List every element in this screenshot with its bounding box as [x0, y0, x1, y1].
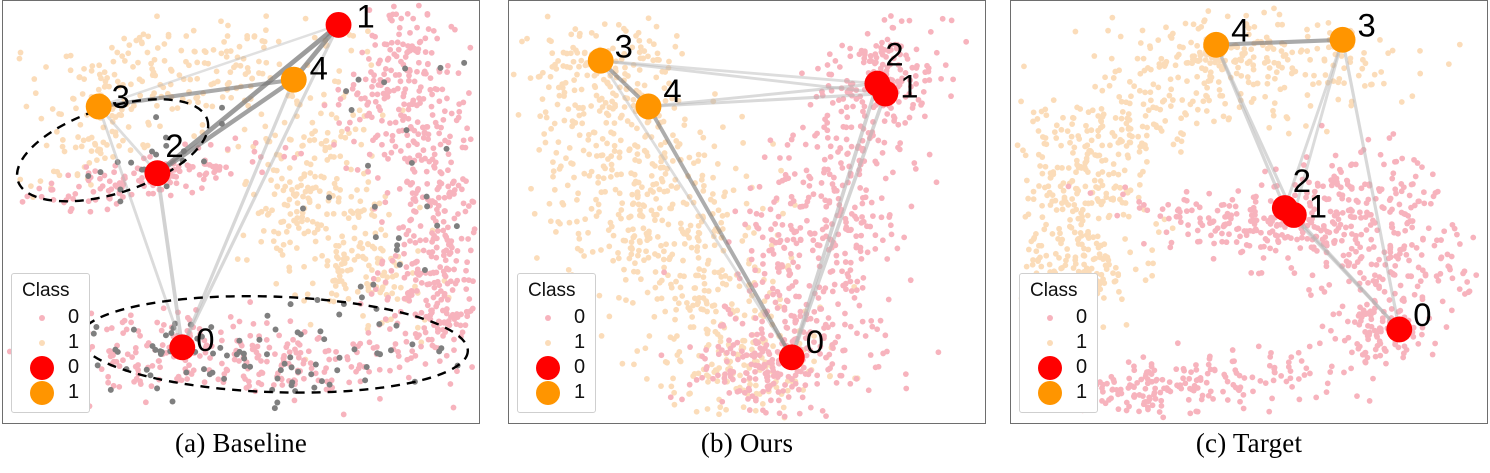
legend-title: Class: [528, 280, 585, 302]
large-red-dot-icon: [1028, 356, 1072, 380]
legend-item-label: 0: [1076, 356, 1087, 379]
legend-ours: Class 0 1 0 1: [517, 273, 596, 413]
small-pink-dot-icon: [20, 315, 64, 321]
graph-edge: [99, 107, 158, 174]
legend-item-label: 1: [1076, 381, 1087, 404]
small-peach-dot-icon: [526, 340, 570, 346]
legend-item-label: 1: [574, 381, 585, 404]
graph-edge: [601, 61, 886, 94]
graph-node-0[interactable]: [169, 334, 195, 360]
legend-item-label: 1: [68, 331, 79, 354]
graph-edge: [157, 173, 182, 347]
large-orange-dot-icon: [1028, 381, 1072, 405]
legend-item-label: 0: [68, 306, 79, 329]
graph-node-4[interactable]: [636, 94, 662, 120]
large-red-dot-icon: [20, 356, 64, 380]
legend-title: Class: [1030, 280, 1087, 302]
panel-ours: 34210 Class 0 1 0 1: [508, 0, 986, 424]
legend-item-label: 0: [574, 356, 585, 379]
graph-node-1[interactable]: [326, 12, 352, 38]
legend-item-label: 1: [1076, 331, 1087, 354]
legend-item[interactable]: 1: [20, 330, 79, 355]
node-label-0: 0: [196, 321, 214, 358]
graph-node-3[interactable]: [1330, 27, 1356, 53]
node-label-4: 4: [1231, 12, 1249, 49]
node-label-4: 4: [663, 72, 681, 109]
node-label-4: 4: [310, 49, 328, 86]
panel-target: 43210 Class 0 1 0 1: [1010, 0, 1488, 424]
node-label-0: 0: [1413, 296, 1431, 333]
legend-item[interactable]: 1: [526, 380, 585, 405]
graph-node-3[interactable]: [86, 94, 112, 120]
caption-target: (c) Target: [1010, 428, 1488, 459]
large-red-dot-icon: [526, 356, 570, 380]
legend-item-label: 1: [68, 381, 79, 404]
legend-item[interactable]: 0: [20, 355, 79, 380]
small-peach-dot-icon: [1028, 340, 1072, 346]
figure-root: 14320 Class 0 1 0 1 34210 Class: [0, 0, 1490, 473]
graph-edge: [1294, 215, 1400, 329]
graph-node-0[interactable]: [779, 344, 805, 370]
graph-node-0[interactable]: [1386, 317, 1412, 343]
small-peach-dot-icon: [20, 340, 64, 346]
large-orange-dot-icon: [526, 381, 570, 405]
node-label-1: 1: [900, 67, 918, 104]
legend-baseline: Class 0 1 0 1: [11, 273, 90, 413]
graph-node-4[interactable]: [281, 67, 307, 93]
legend-item-label: 0: [574, 306, 585, 329]
node-label-3: 3: [1357, 7, 1375, 44]
legend-item[interactable]: 0: [1028, 305, 1087, 330]
legend-target: Class 0 1 0 1: [1019, 273, 1098, 413]
graph-node-3[interactable]: [588, 48, 614, 74]
legend-item[interactable]: 0: [20, 305, 79, 330]
node-label-3: 3: [112, 78, 130, 115]
legend-item[interactable]: 1: [526, 330, 585, 355]
large-orange-dot-icon: [20, 381, 64, 405]
small-pink-dot-icon: [526, 315, 570, 321]
node-label-3: 3: [615, 27, 633, 64]
small-pink-dot-icon: [1028, 315, 1072, 321]
legend-item[interactable]: 0: [1028, 355, 1087, 380]
node-label-1: 1: [1309, 188, 1327, 225]
graph-node-2[interactable]: [144, 160, 170, 186]
graph-node-1[interactable]: [1281, 202, 1307, 228]
node-label-1: 1: [356, 1, 374, 35]
node-label-0: 0: [806, 323, 824, 360]
caption-ours: (b) Ours: [508, 428, 986, 459]
node-label-2: 2: [165, 127, 183, 164]
caption-baseline: (a) Baseline: [2, 428, 480, 459]
legend-item[interactable]: 0: [526, 355, 585, 380]
legend-title: Class: [22, 280, 79, 302]
panel-baseline: 14320 Class 0 1 0 1: [2, 0, 480, 424]
legend-item[interactable]: 1: [20, 380, 79, 405]
legend-item-label: 1: [574, 331, 585, 354]
legend-item[interactable]: 1: [1028, 330, 1087, 355]
legend-item-label: 0: [1076, 306, 1087, 329]
graph-node-1[interactable]: [872, 81, 898, 107]
legend-item[interactable]: 0: [526, 305, 585, 330]
legend-item-label: 0: [68, 356, 79, 379]
legend-item[interactable]: 1: [1028, 380, 1087, 405]
graph-node-4[interactable]: [1203, 32, 1229, 58]
